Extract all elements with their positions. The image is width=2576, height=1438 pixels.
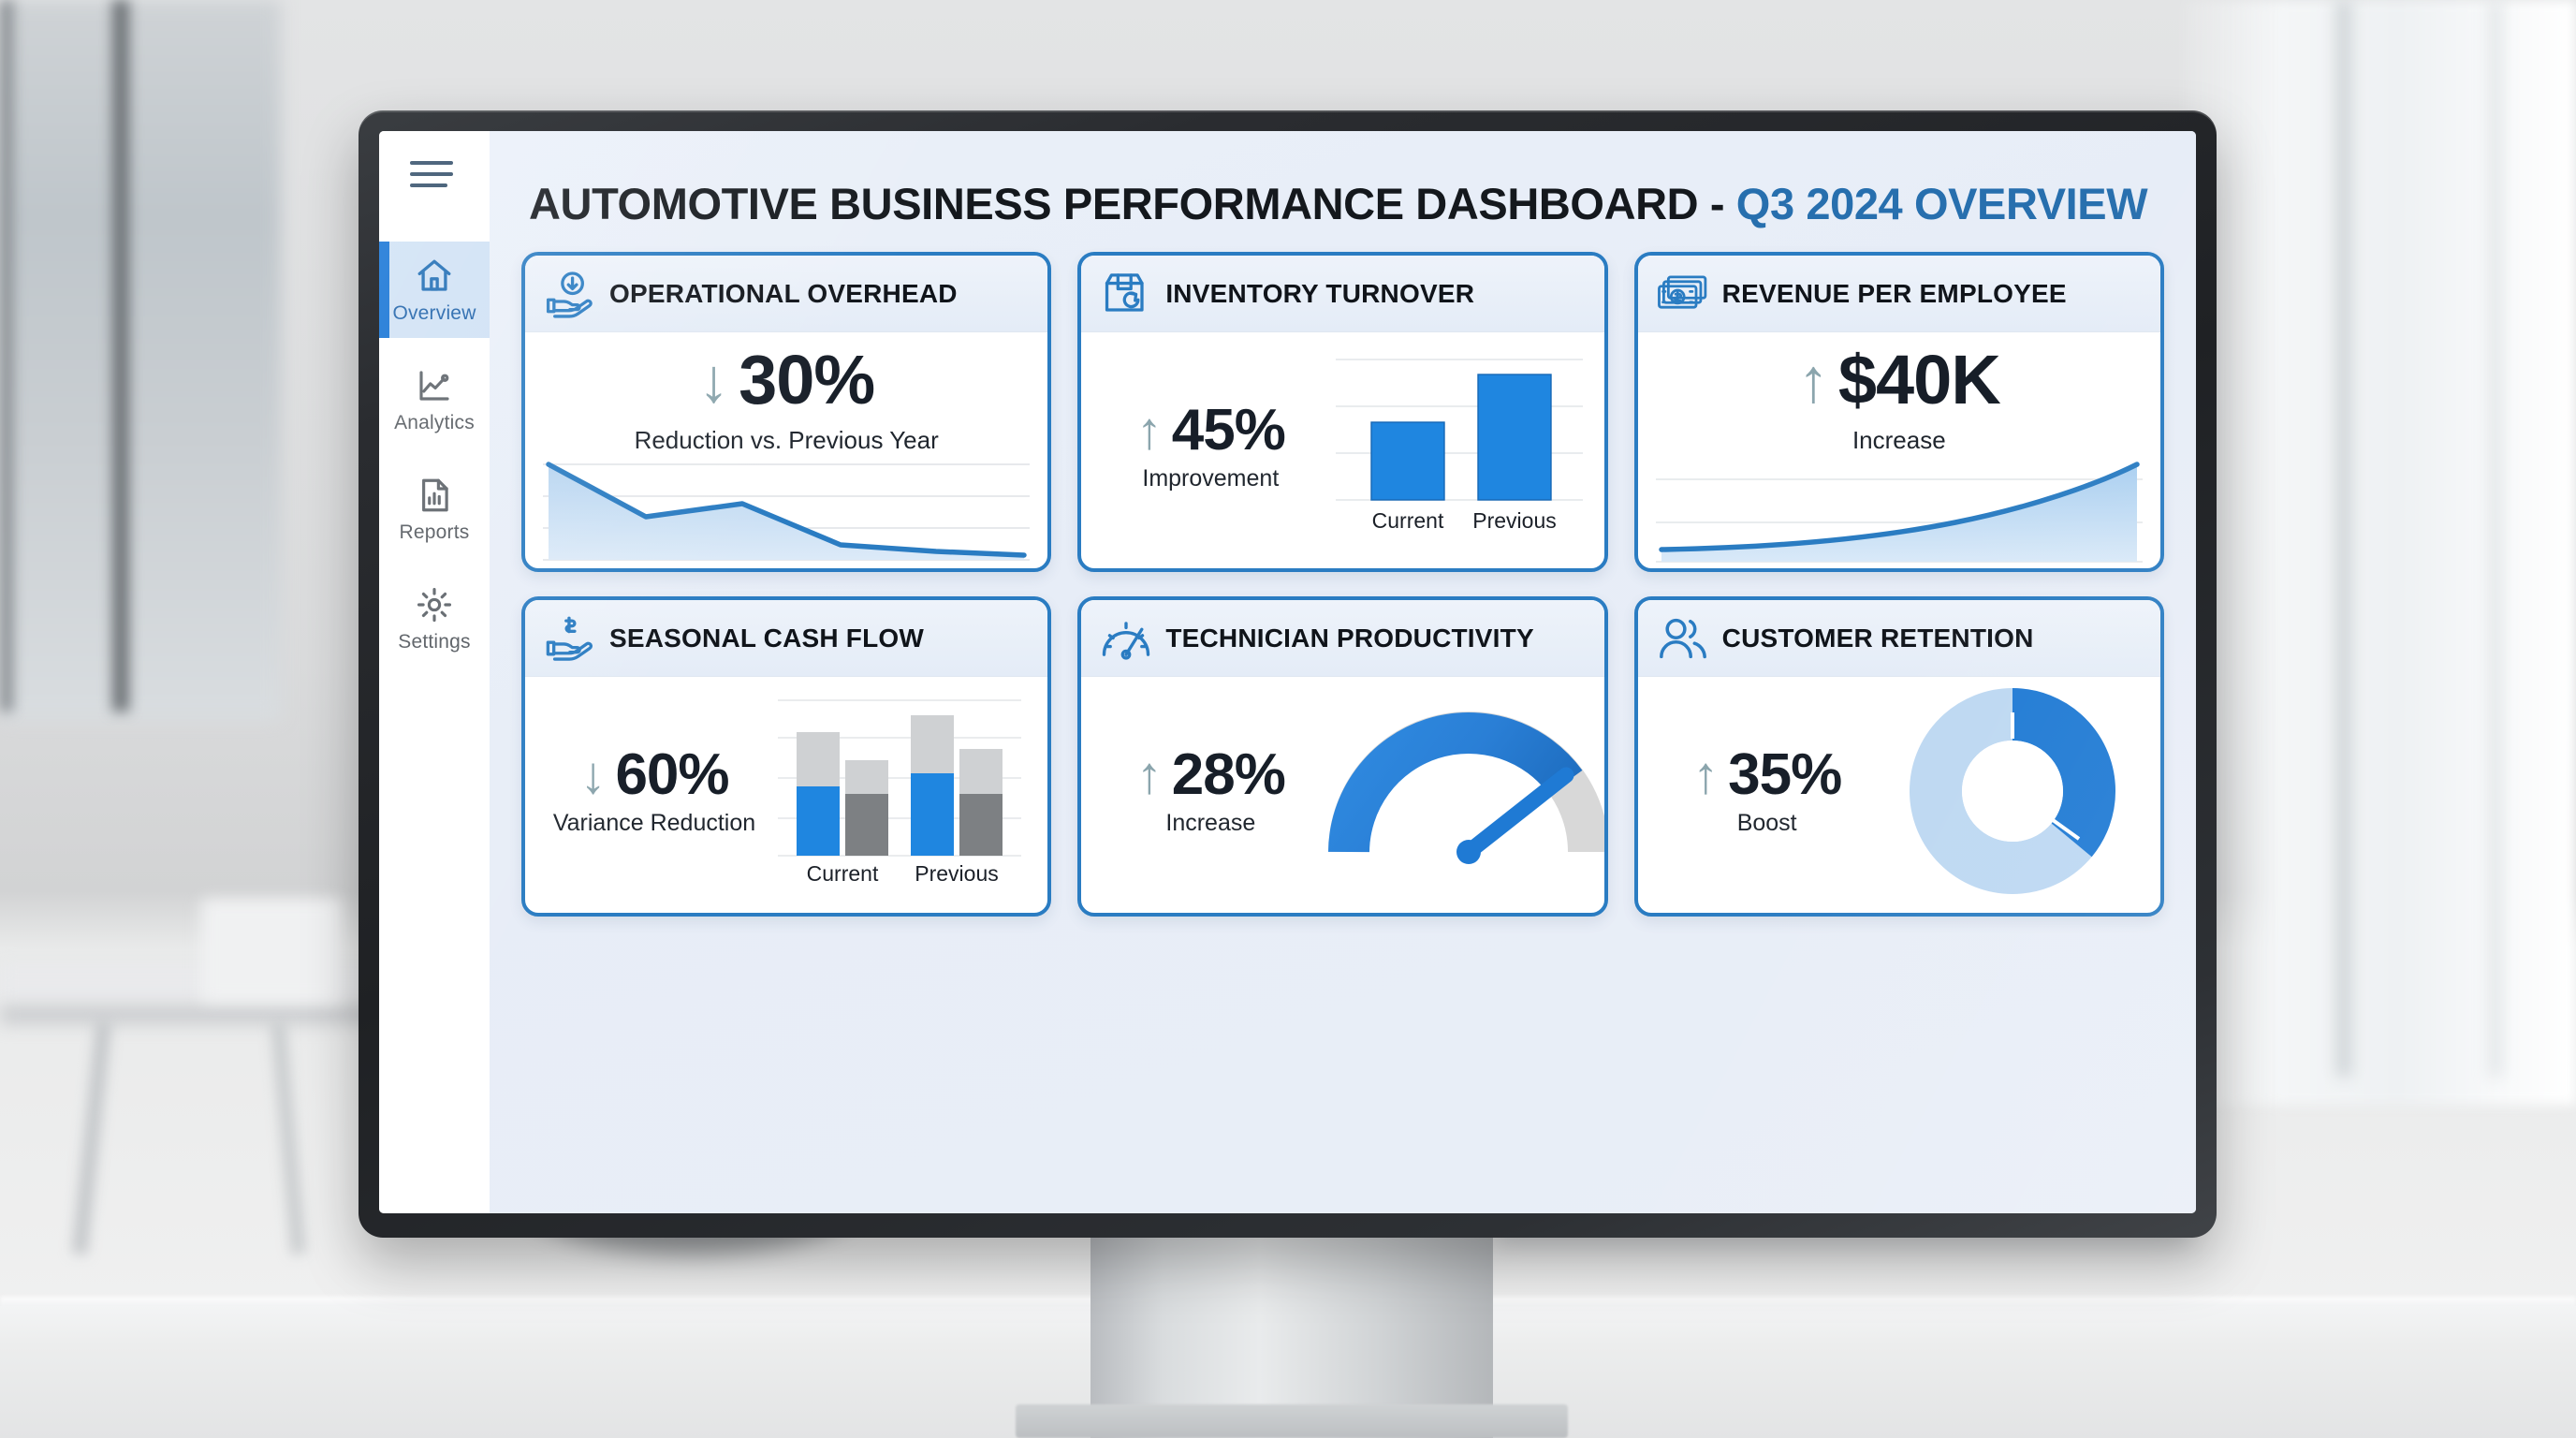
bar-chart-svg: Current Previous xyxy=(1328,346,1590,548)
stack-base-blue-1 xyxy=(797,786,840,856)
card-title: CUSTOMER RETENTION xyxy=(1722,624,2034,653)
gauge-svg xyxy=(1328,710,1607,873)
kpi-value: $40K xyxy=(1838,345,2000,415)
card-customer-retention[interactable]: CUSTOMER RETENTION ↑ 35% Boost xyxy=(1634,596,2164,917)
card-header: INVENTORY TURNOVER xyxy=(1081,256,1603,332)
revenue-growth-chart xyxy=(1659,459,2140,569)
background-window-mullion-2 xyxy=(2490,0,2501,1077)
retention-donut-chart xyxy=(1885,682,2140,900)
kpi-row: ↑ 35% xyxy=(1692,746,1841,804)
kpi-row: ↑ 28% xyxy=(1136,746,1285,804)
dashboard-screen: Overview Analytics Reports Settings xyxy=(379,131,2196,1213)
sidebar-item-analytics[interactable]: Analytics xyxy=(379,351,490,448)
monitor-stand-foot xyxy=(1016,1404,1568,1438)
card-title: SEASONAL CASH FLOW xyxy=(609,624,924,653)
donut-svg xyxy=(1904,682,2121,900)
background-door-frame xyxy=(112,0,129,712)
card-body: ↑ $40K Increase xyxy=(1638,332,2160,572)
card-header: SEASONAL CASH FLOW xyxy=(525,600,1047,677)
card-revenue-per-employee[interactable]: REVENUE PER EMPLOYEE ↑ $40K Increase xyxy=(1634,252,2164,572)
area-fill xyxy=(549,464,1024,560)
home-icon xyxy=(414,257,455,296)
box-return-icon xyxy=(1100,270,1152,318)
background-window-mullion xyxy=(2336,0,2351,1077)
stack-variance-4 xyxy=(959,749,1003,794)
gauge-needle xyxy=(1456,775,1566,864)
kpi-block: ↑ 45% Improvement xyxy=(1102,402,1319,492)
card-body: ↑ 35% Boost xyxy=(1638,677,2160,913)
productivity-gauge-chart xyxy=(1328,682,1607,900)
sidebar-item-label: Reports xyxy=(400,521,470,544)
kpi-value: 60% xyxy=(615,746,728,804)
kpi-block: ↓ 60% Variance Reduction xyxy=(546,746,763,837)
gauge-icon xyxy=(1100,614,1152,663)
sidebar-item-reports[interactable]: Reports xyxy=(379,461,490,557)
card-header: OPERATIONAL OVERHEAD xyxy=(525,256,1047,332)
kpi-value: 30% xyxy=(739,345,874,415)
bar-current xyxy=(1371,422,1444,500)
trend-up-arrow-icon: ↑ xyxy=(1798,349,1829,411)
card-technician-productivity[interactable]: TECHNICIAN PRODUCTIVITY ↑ 28% Increase xyxy=(1077,596,1607,917)
kpi-card-grid: OPERATIONAL OVERHEAD ↓ 30% Reduction vs.… xyxy=(521,252,2164,917)
donut-hole xyxy=(1962,741,2063,842)
bar-label-current: Current xyxy=(807,861,879,886)
stack-base-gray-1 xyxy=(845,794,888,856)
cashflow-stacked-bar-chart: Current Previous xyxy=(772,682,1027,900)
card-body: ↓ 30% Reduction vs. Previous Year xyxy=(525,332,1047,572)
kpi-block: ↑ 35% Boost xyxy=(1659,746,1876,837)
hand-dollar-icon xyxy=(544,614,596,663)
card-title: TECHNICIAN PRODUCTIVITY xyxy=(1165,624,1534,653)
area-chart-svg xyxy=(1656,459,2143,569)
stack-base-blue-2 xyxy=(911,773,954,856)
card-inventory-turnover[interactable]: INVENTORY TURNOVER ↑ 45% Improvement xyxy=(1077,252,1607,572)
bar-label-current: Current xyxy=(1372,508,1444,533)
page-title-main: AUTOMOTIVE BUSINESS PERFORMANCE DASHBOAR… xyxy=(529,179,1736,228)
kpi-block: ↑ 28% Increase xyxy=(1102,746,1319,837)
kpi-subtitle: Reduction vs. Previous Year xyxy=(635,426,939,455)
trend-up-arrow-icon: ↑ xyxy=(1136,404,1163,457)
stack-variance-2 xyxy=(845,760,888,794)
sidebar-item-label: Analytics xyxy=(394,412,475,434)
hamburger-bar xyxy=(410,172,453,176)
area-chart-svg xyxy=(543,459,1030,569)
stack-variance-1 xyxy=(797,732,840,786)
money-stack-icon xyxy=(1657,270,1709,318)
background-window xyxy=(2183,0,2576,1105)
card-seasonal-cash-flow[interactable]: SEASONAL CASH FLOW ↓ 60% Variance Reduct… xyxy=(521,596,1051,917)
background-far-desk-edge xyxy=(0,1006,402,1023)
kpi-subtitle: Improvement xyxy=(1142,465,1279,492)
bar-label-previous: Previous xyxy=(915,861,998,886)
kpi-row: ↓ 30% xyxy=(698,345,874,415)
card-body: ↑ 28% Increase xyxy=(1081,677,1603,913)
background-secondary-monitor xyxy=(201,899,342,1002)
card-header: TECHNICIAN PRODUCTIVITY xyxy=(1081,600,1603,677)
kpi-row: ↓ 60% xyxy=(579,746,728,804)
kpi-row: ↑ 45% xyxy=(1136,402,1285,460)
monitor-bezel: Overview Analytics Reports Settings xyxy=(359,110,2217,1238)
hamburger-icon[interactable] xyxy=(410,155,459,193)
hamburger-bar xyxy=(410,183,447,187)
sidebar-item-label: Overview xyxy=(392,302,476,325)
kpi-subtitle: Boost xyxy=(1737,810,1797,837)
hand-down-arrow-icon xyxy=(544,270,596,318)
line-chart-icon xyxy=(414,366,455,405)
inventory-bar-chart: Current Previous xyxy=(1328,338,1590,555)
sidebar: Overview Analytics Reports Settings xyxy=(379,131,490,1213)
sidebar-item-label: Settings xyxy=(398,631,470,653)
dashboard-main: AUTOMOTIVE BUSINESS PERFORMANCE DASHBOAR… xyxy=(490,131,2196,1213)
kpi-subtitle: Increase xyxy=(1852,426,1946,455)
card-title: OPERATIONAL OVERHEAD xyxy=(609,279,958,309)
page-title: AUTOMOTIVE BUSINESS PERFORMANCE DASHBOAR… xyxy=(529,178,2164,229)
card-body: ↓ 60% Variance Reduction xyxy=(525,677,1047,913)
kpi-value: 35% xyxy=(1728,746,1841,804)
sidebar-item-overview[interactable]: Overview xyxy=(379,242,490,338)
trend-up-arrow-icon: ↑ xyxy=(1692,749,1719,801)
users-icon xyxy=(1657,614,1709,663)
card-operational-overhead[interactable]: OPERATIONAL OVERHEAD ↓ 30% Reduction vs.… xyxy=(521,252,1051,572)
trend-down-arrow-icon: ↓ xyxy=(579,749,606,801)
card-title: INVENTORY TURNOVER xyxy=(1165,279,1474,309)
background-door-frame-left xyxy=(0,0,13,712)
stacked-bar-chart-svg: Current Previous xyxy=(774,691,1025,892)
kpi-subtitle: Increase xyxy=(1165,810,1255,837)
kpi-subtitle: Variance Reduction xyxy=(553,810,755,837)
kpi-value: 28% xyxy=(1172,746,1285,804)
card-header: CUSTOMER RETENTION xyxy=(1638,600,2160,677)
trend-up-arrow-icon: ↑ xyxy=(1136,749,1163,801)
card-header: REVENUE PER EMPLOYEE xyxy=(1638,256,2160,332)
document-chart-icon xyxy=(414,476,455,515)
stack-variance-3 xyxy=(911,715,954,773)
stack-base-gray-2 xyxy=(959,794,1003,856)
card-title: REVENUE PER EMPLOYEE xyxy=(1722,279,2067,309)
overhead-trend-chart xyxy=(546,459,1027,569)
hamburger-bar xyxy=(410,161,453,165)
bar-previous xyxy=(1478,374,1551,500)
bar-label-previous: Previous xyxy=(1473,508,1557,533)
trend-down-arrow-icon: ↓ xyxy=(698,349,729,411)
background-glass-door xyxy=(0,0,281,721)
kpi-row: ↑ $40K xyxy=(1798,345,2000,415)
kpi-value: 45% xyxy=(1172,402,1285,460)
card-body: ↑ 45% Improvement xyxy=(1081,332,1603,568)
gear-icon xyxy=(414,585,455,624)
page-title-accent: Q3 2024 OVERVIEW xyxy=(1736,179,2147,228)
sidebar-item-settings[interactable]: Settings xyxy=(379,570,490,667)
